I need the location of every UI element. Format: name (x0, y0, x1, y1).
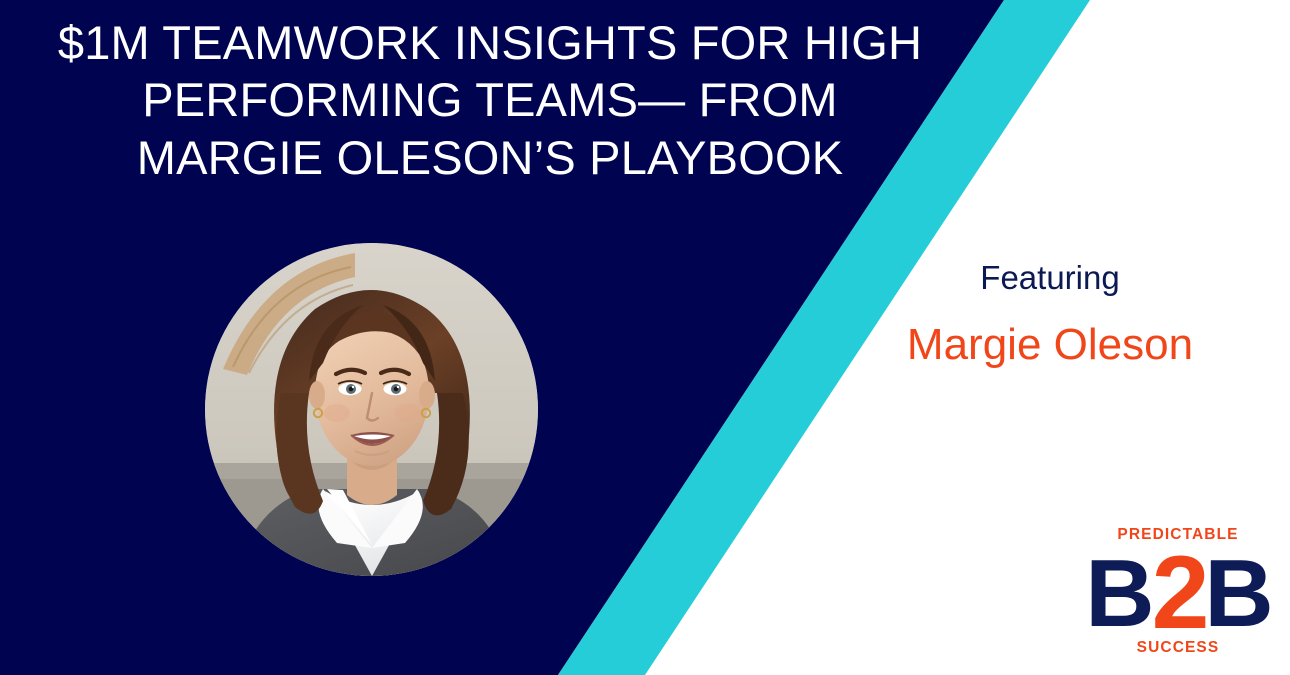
page-title: $1M TEAMWORK INSIGHTS FOR HIGH PERFORMIN… (0, 14, 980, 186)
logo-wordmark: B2B (1073, 544, 1283, 643)
speaker-name: Margie Oleson (830, 320, 1270, 371)
logo-letter-b-right: B (1204, 539, 1270, 646)
brand-logo: PREDICTABLE B2B SUCCESS (1073, 527, 1283, 675)
featuring-block: Featuring Margie Oleson (830, 258, 1270, 370)
logo-letter-b-left: B (1085, 539, 1151, 646)
featuring-label: Featuring (830, 258, 1270, 298)
promo-card: $1M TEAMWORK INSIGHTS FOR HIGH PERFORMIN… (0, 0, 1290, 675)
title-block: $1M TEAMWORK INSIGHTS FOR HIGH PERFORMIN… (0, 14, 980, 186)
logo-digit-two: 2 (1152, 535, 1205, 651)
headshot-image (205, 243, 538, 576)
avatar (205, 243, 538, 576)
